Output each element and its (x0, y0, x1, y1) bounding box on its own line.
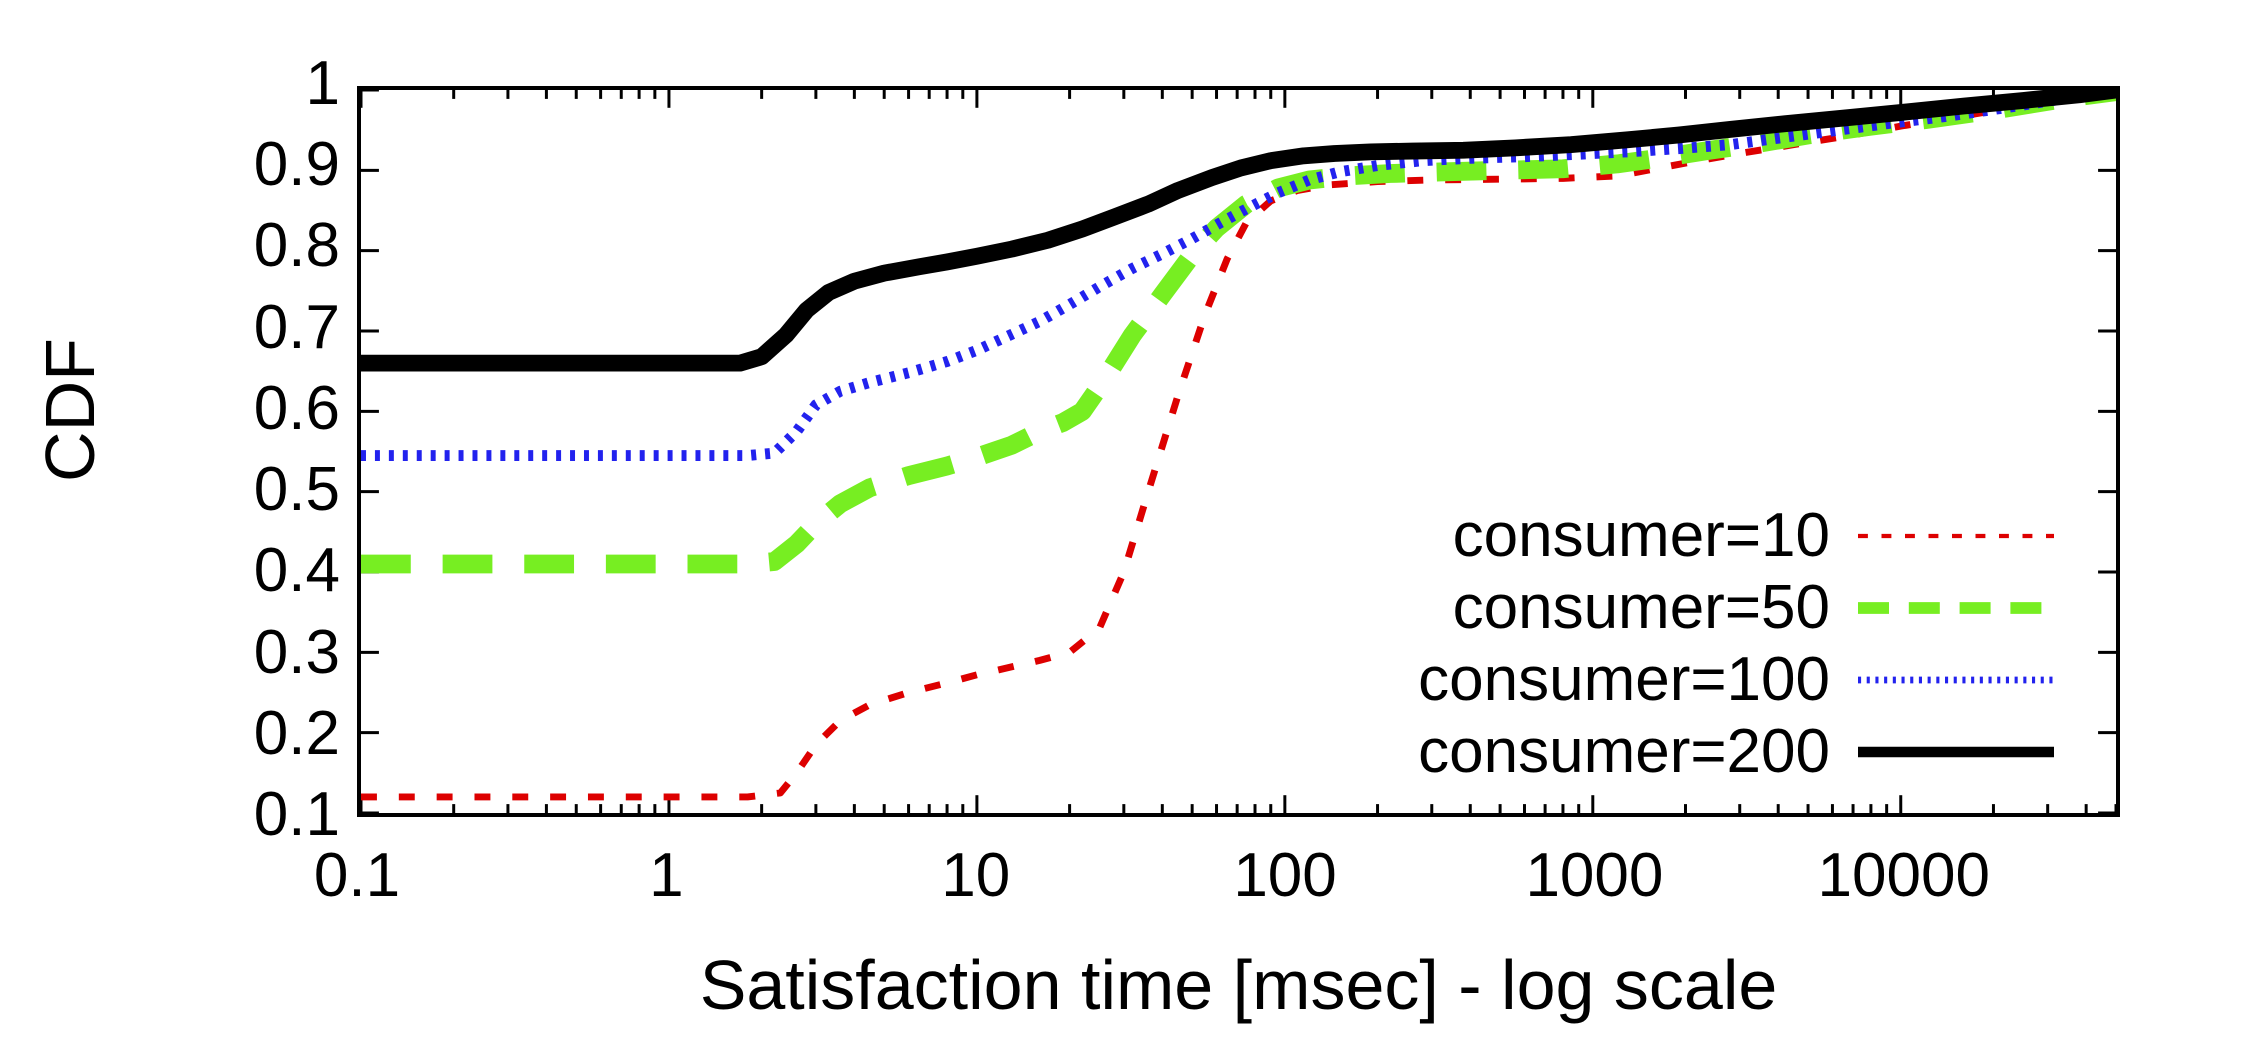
y-axis-tick-label: 0.1 (150, 784, 340, 846)
y-axis-tick-label: 0.5 (150, 459, 340, 521)
chart-root: CDF 0.10.20.30.40.50.60.70.80.91 0.11101… (0, 0, 2250, 1050)
x-axis-tick-label: 100 (1233, 845, 1336, 907)
black-solid-key (1856, 732, 2056, 772)
legend-item[interactable]: consumer=50 (1330, 572, 2090, 644)
x-axis-tick-label: 1 (649, 845, 683, 907)
y-axis-tick-label: 0.9 (150, 134, 340, 196)
legend-item[interactable]: consumer=100 (1330, 644, 2090, 716)
green-long-dash-key (1856, 588, 2056, 628)
legend-item-label: consumer=100 (1330, 649, 1856, 711)
x-axis-tick-label: 0.1 (314, 845, 400, 907)
x-axis-tick-label: 1000 (1525, 845, 1663, 907)
x-axis-tick-label: 10 (941, 845, 1010, 907)
y-axis-tick-label: 0.6 (150, 378, 340, 440)
y-axis-tick-label: 1 (150, 53, 340, 115)
red-short-dash-key (1856, 516, 2056, 556)
y-axis-tick-label: 0.4 (150, 540, 340, 602)
legend-item-label: consumer=200 (1330, 721, 1856, 783)
legend-item-label: consumer=10 (1330, 505, 1856, 567)
series-line-consumer-100 (361, 91, 2116, 456)
y-axis-tick-label: 0.7 (150, 297, 340, 359)
y-axis-tick-label: 0.3 (150, 622, 340, 684)
x-axis-tick-label: 10000 (1818, 845, 1990, 907)
legend-item[interactable]: consumer=10 (1330, 500, 2090, 572)
chart-legend: consumer=10consumer=50consumer=100consum… (1330, 500, 2090, 788)
legend-item-label: consumer=50 (1330, 577, 1856, 639)
y-axis-tick-label: 0.2 (150, 703, 340, 765)
y-axis-tick-label: 0.8 (150, 215, 340, 277)
y-axis-title: CDF (30, 280, 110, 540)
legend-item[interactable]: consumer=200 (1330, 716, 2090, 788)
blue-dotted-key (1856, 660, 2056, 700)
x-axis-title: Satisfaction time [msec] - log scale (357, 945, 2120, 1025)
